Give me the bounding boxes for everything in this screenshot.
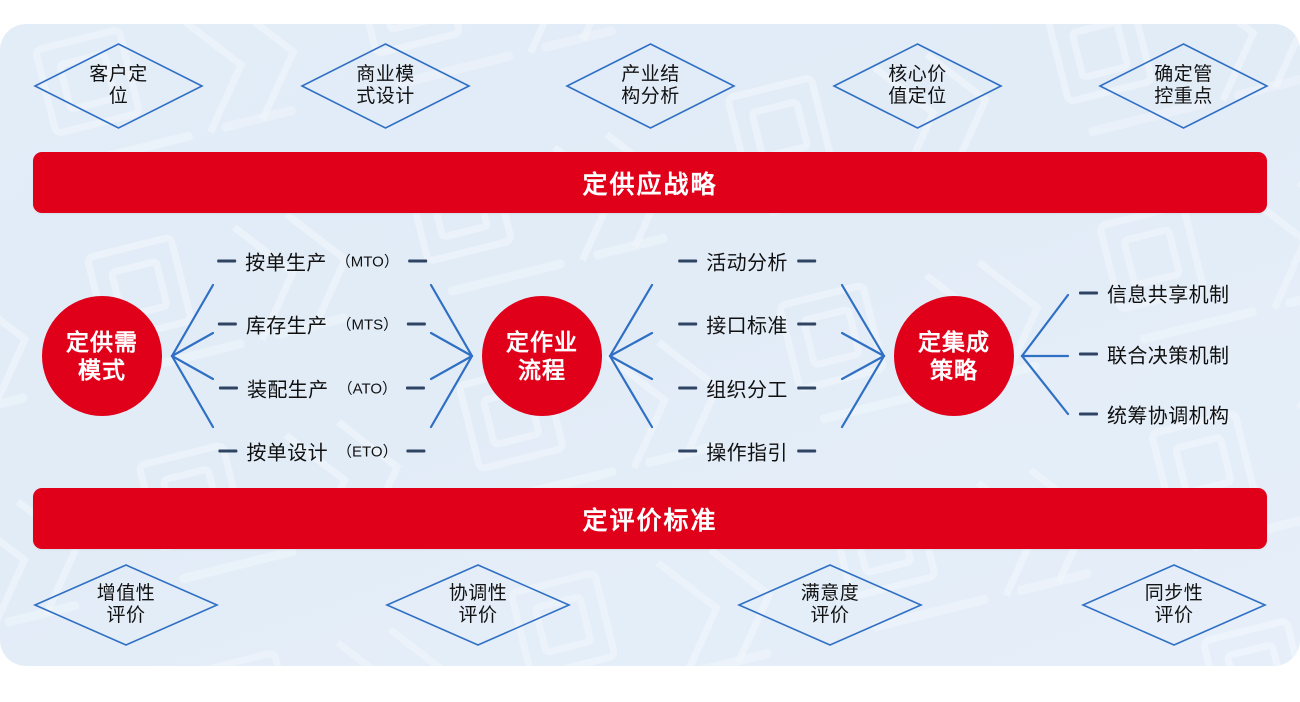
top-node-label: 商业模 式设计 [356, 64, 415, 109]
top-node-3[interactable]: 产业结 构分析 [565, 42, 736, 130]
branch-label-s3-3[interactable]: 统筹协调机构 [1079, 400, 1229, 429]
branch-text: 信息共享机制 [1107, 279, 1229, 308]
dash-icon [218, 323, 237, 326]
branch-label-s1-2[interactable]: 库存生产 （MTS） [218, 310, 426, 339]
branch-label-s2-2[interactable]: 接口标准 [678, 310, 816, 339]
bottom-banner-label: 定评价标准 [582, 501, 717, 537]
top-node-label: 产业结 构分析 [621, 64, 680, 109]
branch-abbr: （MTS） [336, 314, 398, 335]
dash-icon [678, 323, 697, 326]
branch-label-s3-1[interactable]: 信息共享机制 [1079, 279, 1229, 308]
dash-icon [1079, 413, 1098, 416]
branch-abbr: （ETO） [337, 441, 398, 462]
dash-icon [678, 260, 697, 263]
top-node-2[interactable]: 商业模 式设计 [300, 42, 471, 130]
branch-text: 库存生产 [246, 310, 328, 339]
branch-label-s1-1[interactable]: 按单生产 （MTO） [217, 247, 427, 276]
bottom-node-4[interactable]: 同步性 评价 [1081, 563, 1267, 647]
dash-icon [797, 260, 816, 263]
branch-label-s2-3[interactable]: 组织分工 [678, 374, 816, 403]
dash-icon [678, 450, 697, 453]
branch-text: 组织分工 [706, 374, 788, 403]
stage-circle-1-label: 定供需 模式 [66, 328, 138, 384]
bottom-node-label: 满意度 评价 [801, 583, 860, 628]
top-node-4[interactable]: 核心价 值定位 [832, 42, 1003, 130]
stage-circle-3[interactable]: 定集成 策略 [894, 296, 1014, 416]
dash-icon [407, 323, 426, 326]
dash-icon [219, 387, 238, 390]
top-banner[interactable]: 定供应战略 [33, 152, 1267, 213]
dash-icon [797, 450, 816, 453]
branch-abbr: （MTO） [336, 251, 399, 272]
stage-circle-3-label: 定集成 策略 [918, 328, 990, 384]
dash-icon [678, 387, 697, 390]
dash-icon [1079, 292, 1098, 295]
dash-icon [797, 323, 816, 326]
branch-text: 联合决策机制 [1107, 340, 1229, 369]
branch-abbr: （ATO） [338, 378, 397, 399]
dash-icon [406, 387, 425, 390]
bottom-node-2[interactable]: 协调性 评价 [385, 563, 571, 647]
dash-icon [1079, 353, 1098, 356]
stage-circle-2-label: 定作业 流程 [506, 328, 578, 384]
top-node-5[interactable]: 确定管 控重点 [1098, 42, 1269, 130]
branch-text: 统筹协调机构 [1107, 400, 1229, 429]
top-banner-label: 定供应战略 [582, 165, 717, 201]
bottom-node-1[interactable]: 增值性 评价 [33, 563, 219, 647]
top-node-label: 客户定 位 [89, 64, 148, 109]
branch-label-s1-4[interactable]: 按单设计 （ETO） [218, 437, 425, 466]
branch-label-s1-3[interactable]: 装配生产 （ATO） [219, 374, 425, 403]
bottom-node-3[interactable]: 满意度 评价 [737, 563, 923, 647]
dash-icon [407, 450, 426, 453]
bottom-node-label: 同步性 评价 [1145, 583, 1204, 628]
bottom-node-label: 协调性 评价 [449, 583, 508, 628]
dash-icon [797, 387, 816, 390]
branch-text: 活动分析 [706, 247, 788, 276]
dash-icon [218, 450, 237, 453]
branch-label-s2-4[interactable]: 操作指引 [678, 437, 816, 466]
branch-label-s2-1[interactable]: 活动分析 [678, 247, 816, 276]
branch-text: 按单设计 [246, 437, 328, 466]
bottom-banner[interactable]: 定评价标准 [33, 488, 1267, 549]
dash-icon [408, 260, 427, 263]
branch-text: 装配生产 [247, 374, 329, 403]
stage-circle-1[interactable]: 定供需 模式 [42, 296, 162, 416]
branch-text: 操作指引 [706, 437, 788, 466]
branch-label-s3-2[interactable]: 联合决策机制 [1079, 340, 1229, 369]
top-node-1[interactable]: 客户定 位 [33, 42, 204, 130]
top-node-label: 核心价 值定位 [888, 64, 947, 109]
branch-text: 按单生产 [245, 247, 327, 276]
diagram-canvas: 客户定 位 商业模 式设计 产业结 构分析 核心价 值定位 确定管 控重点 定供… [0, 0, 1300, 702]
bottom-node-label: 增值性 评价 [97, 583, 156, 628]
dash-icon [217, 260, 236, 263]
top-node-label: 确定管 控重点 [1154, 64, 1213, 109]
branch-text: 接口标准 [706, 310, 788, 339]
stage-circle-2[interactable]: 定作业 流程 [482, 296, 602, 416]
